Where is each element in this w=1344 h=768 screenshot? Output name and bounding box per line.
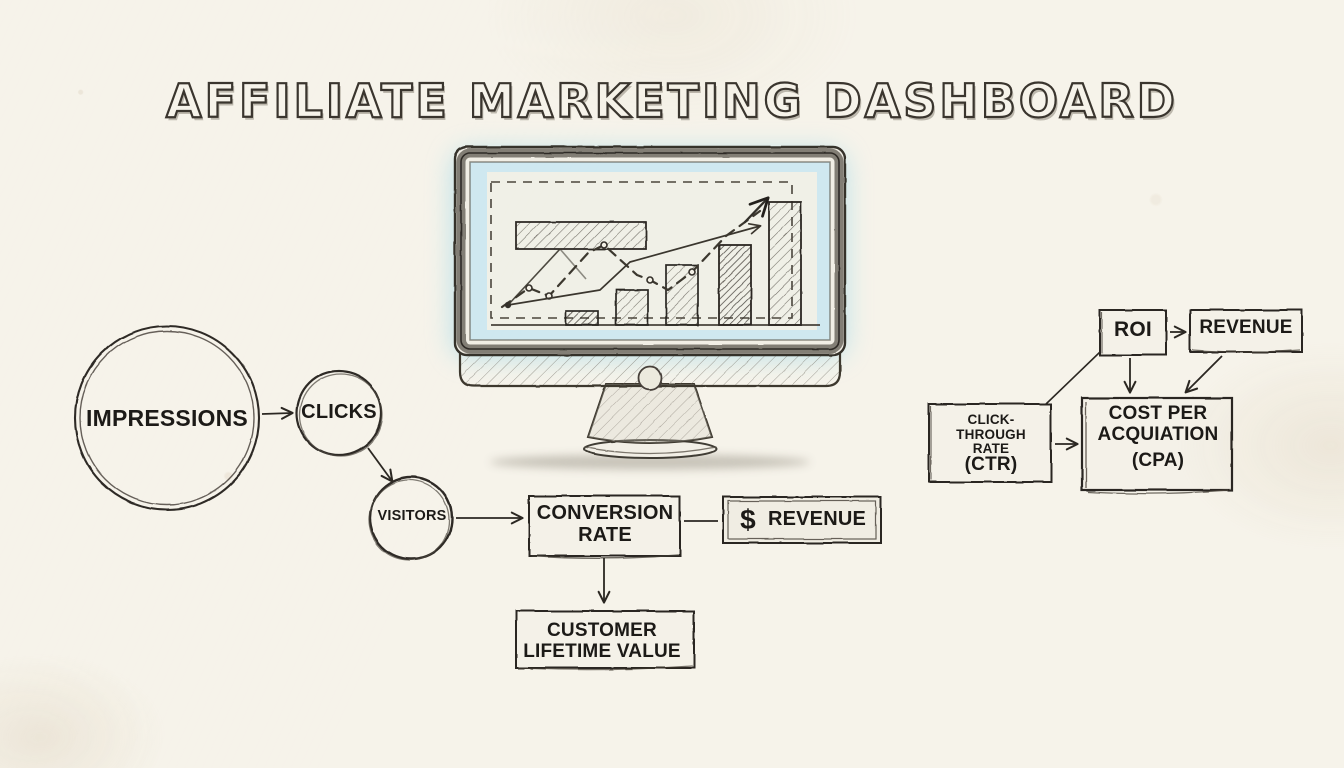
chart-bar-5: [769, 202, 801, 325]
monitor-neck: [588, 384, 712, 443]
node-label-conversion-rate: CONVERSIONRATE: [531, 503, 679, 546]
page-title: AFFILIATE MARKETING DASHBOARD: [0, 74, 1344, 128]
node-label-roi: ROI: [1100, 319, 1166, 342]
dollar-icon: $: [735, 505, 761, 535]
ctr-line1: CLICK-THROUGH: [956, 412, 1026, 442]
conversion-rate-line2: RATE: [578, 524, 632, 546]
arrow-clicks-to-visitors: [368, 448, 392, 481]
node-label-revenue: REVENUE: [762, 509, 872, 531]
monitor-chin: [460, 352, 840, 390]
clv-line2: LIFETIME VALUE: [523, 641, 681, 662]
node-label-cpa-title: COST PERACQUIATION: [1084, 404, 1232, 445]
node-label-customer-lifetime-value: CUSTOMERLIFETIME VALUE: [519, 621, 685, 662]
node-label-visitors: VISITORS: [371, 509, 453, 525]
connector-roi-to-ctr: [1046, 352, 1100, 404]
clv-line1: CUSTOMER: [547, 620, 657, 641]
cpa-line1: COST PER: [1109, 403, 1208, 424]
node-label-ctr-title: CLICK-THROUGHRATE: [933, 413, 1049, 457]
monitor-illustration: [452, 147, 846, 470]
node-label-cpa-abbrev: (CPA): [1084, 451, 1232, 472]
chart-horizontal-bar: [516, 222, 646, 249]
funnel-nodes: [75, 326, 522, 560]
conversion-rate-line1: CONVERSION: [537, 502, 673, 524]
monitor-power-button[interactable]: [639, 367, 662, 390]
chart-bar-4: [719, 245, 751, 325]
node-label-revenue-right: REVENUE: [1190, 318, 1302, 339]
node-label-clicks: CLICKS: [289, 402, 389, 424]
node-label-impressions: IMPRESSIONS: [67, 406, 267, 431]
sketch-canvas: AFFILIATE MARKETING DASHBOARD IMPRESSION…: [0, 0, 1344, 768]
chart-bar-2: [616, 290, 648, 325]
chart-bar-1: [566, 311, 598, 325]
node-label-ctr-abbrev: (CTR): [933, 455, 1049, 476]
cpa-line2: ACQUIATION: [1098, 424, 1219, 445]
arrow-revenue-to-cpa: [1186, 356, 1222, 392]
screen-chart: [487, 172, 820, 330]
